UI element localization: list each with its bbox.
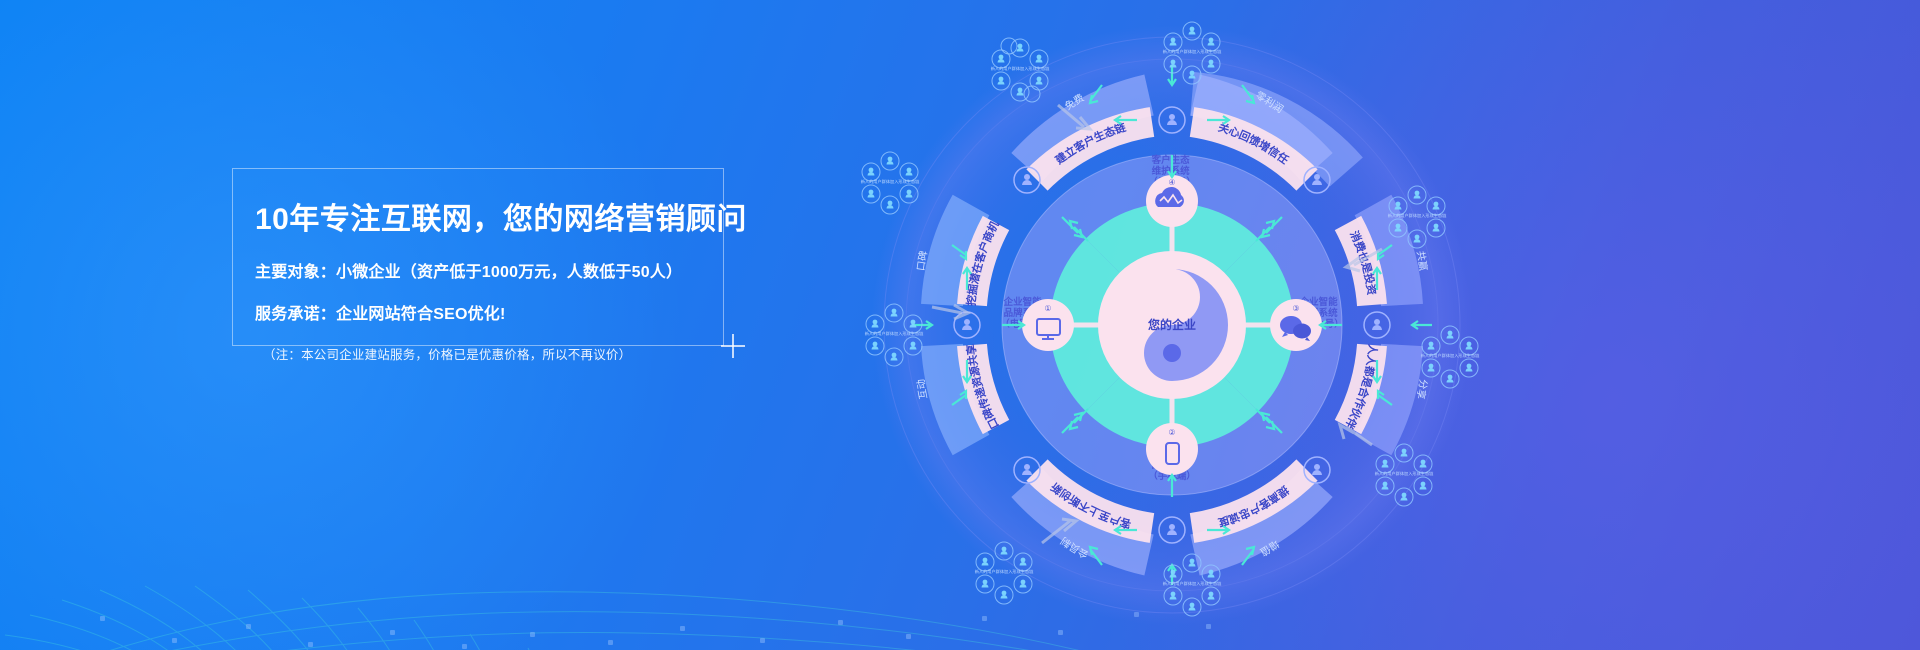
cluster-label: 新人的用户群体加入形成生态链 [1163,580,1222,587]
ecosystem-diagram: 建立客户生态链 关心回馈增信任 消费也是投资 人人都是合作伙伴 提高客户忠诚度 … [852,5,1492,645]
system-node-mobile[interactable]: ② [1146,423,1198,475]
system-node-monitor[interactable]: ① [1022,299,1074,351]
system-node-number-4: ④ [1168,178,1175,187]
cluster-label: 新人的用户群体加入形成生态链 [1163,48,1222,55]
cluster-label: 新人的用户群体加入形成生态链 [865,330,924,337]
cluster-label: 新人的用户群体加入形成生态链 [1421,352,1480,359]
system-node-number-1: ① [1044,304,1051,313]
marketing-banner: 10年专注互联网，您的网络营销顾问 主要对象：小微企业（资产低于1000万元，人… [0,0,1920,650]
cluster-label: 新人的用户群体加入形成生态链 [991,65,1050,72]
cluster-label: 新人的用户群体加入形成生态链 [1375,470,1434,477]
target-audience-line: 主要对象：小微企业（资产低于1000万元，人数低于50人） [255,258,723,282]
cluster-label: 新人的用户群体加入形成生态链 [1388,212,1447,219]
system-node-cloud[interactable]: ④ [1146,175,1198,227]
system-node-number-2: ② [1168,428,1175,437]
promo-text-panel: 10年专注互联网，您的网络营销顾问 主要对象：小微企业（资产低于1000万元，人… [232,168,724,346]
service-promise-line: 服务承诺：企业网站符合SEO优化! [255,300,723,324]
page-title: 10年专注互联网，您的网络营销顾问 [255,203,723,236]
system-node-wechat[interactable]: ③ [1270,299,1322,351]
ecosystem-diagram-svg: 建立客户生态链 关心回馈增信任 消费也是投资 人人都是合作伙伴 提高客户忠诚度 … [852,5,1492,645]
system-node-number-3: ③ [1292,304,1299,313]
center-label: 您的企业 [1148,317,1196,332]
cluster-label: 新人的用户群体加入形成生态链 [861,178,920,185]
cluster-label: 新人的用户群体加入形成生态链 [975,568,1034,575]
center-node: 您的企业 [1098,251,1246,399]
price-note: （注：本公司企业建站服务，价格已是优惠价格，所以不再议价） [263,344,723,363]
panel-corner-plus-icon [721,334,745,358]
